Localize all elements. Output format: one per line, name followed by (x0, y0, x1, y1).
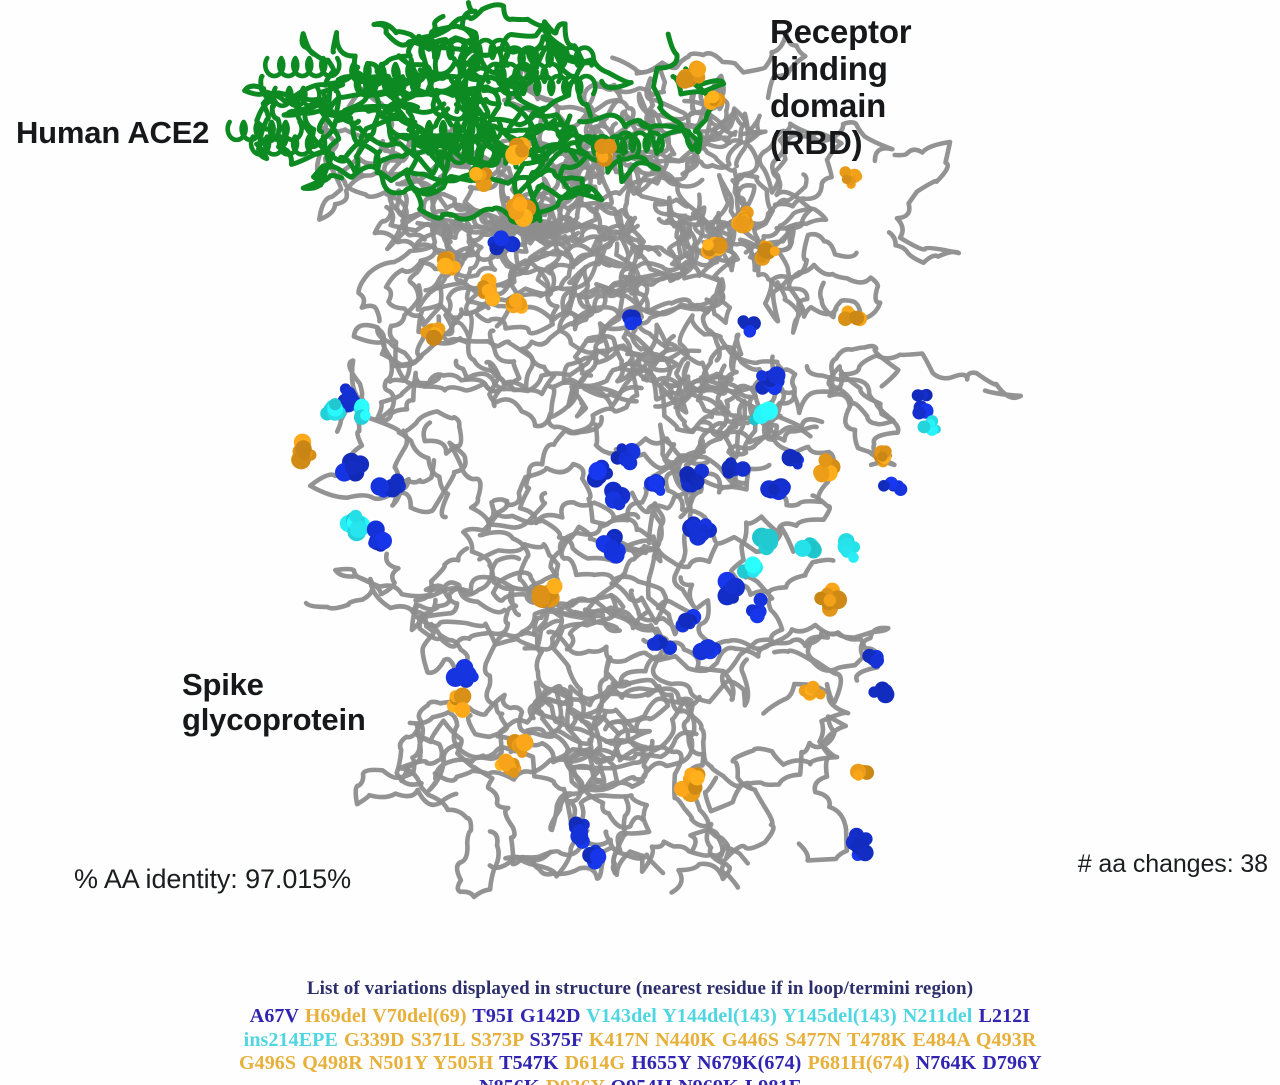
residue-sphere-cluster (367, 521, 392, 552)
residue-sphere-cluster (814, 583, 847, 617)
variation-item: Q498R (302, 1052, 363, 1074)
variation-item: H655Y (631, 1052, 691, 1074)
residue-sphere-cluster (291, 434, 317, 470)
figure-canvas: Human ACE2 Receptor binding domain (RBD)… (0, 0, 1280, 1085)
variation-item: G446S (722, 1029, 779, 1051)
label-receptor-binding-domain: Receptor binding domain (RBD) (770, 14, 911, 162)
residue-sphere-cluster (731, 206, 754, 234)
residue-sphere-cluster (679, 464, 709, 493)
residue-sphere-cluster (611, 443, 641, 470)
variation-item: S375F (529, 1029, 582, 1051)
variation-item: S373P (471, 1029, 524, 1051)
variation-item: L981F (745, 1076, 801, 1085)
residue-sphere-cluster (746, 593, 768, 623)
variation-item: G142D (520, 1005, 581, 1027)
residue-sphere-cluster (846, 828, 874, 862)
residue-sphere-cluster (674, 767, 705, 802)
variation-item: T547K (499, 1052, 558, 1074)
residue-sphere-cluster (794, 537, 822, 558)
aa-changes-stat: # aa changes: 38 (1078, 850, 1268, 879)
variation-item: Y505H (433, 1052, 494, 1074)
variation-item: H69del (305, 1005, 367, 1027)
residue-sphere-cluster (840, 166, 863, 189)
residue-sphere-cluster (850, 764, 874, 781)
variation-item: T95I (472, 1005, 514, 1027)
variation-item: ins214EPE (244, 1029, 338, 1051)
variation-item: D614G (565, 1052, 626, 1074)
variation-item: N501Y (369, 1052, 428, 1074)
residue-sphere-cluster (722, 457, 751, 478)
variation-item: N440K (655, 1029, 716, 1051)
variation-item: L212I (979, 1005, 1031, 1027)
variation-item: V70del(69) (372, 1005, 466, 1027)
variation-item: T478K (847, 1029, 906, 1051)
label-human-ace2: Human ACE2 (16, 116, 209, 151)
variation-item: S371L (411, 1029, 465, 1051)
variation-list-caption: List of variations displayed in structur… (0, 978, 1280, 1000)
variation-list-block: List of variations displayed in structur… (0, 978, 1280, 1085)
residue-sphere-cluster (862, 649, 884, 669)
protein-structure-render (0, 0, 1280, 1085)
variation-item: G339D (344, 1029, 405, 1051)
variation-item: G496S (239, 1052, 296, 1074)
variation-item: D936Y (546, 1076, 605, 1085)
residue-sphere-cluster (838, 533, 861, 563)
residue-sphere-cluster (477, 273, 500, 306)
residue-sphere-cluster (755, 366, 785, 395)
residue-sphere-cluster (838, 306, 867, 327)
residue-sphere-cluster (912, 389, 934, 420)
variation-item: Q493R (976, 1029, 1037, 1051)
variation-item: N856K (479, 1076, 540, 1085)
variation-item: D796Y (982, 1052, 1041, 1074)
variation-item: Y144del(143) (662, 1005, 777, 1027)
variation-item: K417N (589, 1029, 650, 1051)
residue-sphere-cluster (604, 482, 630, 511)
variation-item: V143del (586, 1005, 657, 1027)
variation-item: N679K(674) (697, 1052, 801, 1074)
variation-list: A67V H69del V70del(69) T95I G142D V143de… (0, 1005, 1280, 1085)
variation-item: N211del (903, 1005, 973, 1027)
residue-sphere-cluster (354, 399, 371, 425)
residue-sphere-cluster (813, 453, 840, 482)
aa-identity-stat: % AA identity: 97.015% (74, 864, 351, 895)
residue-sphere-cluster (335, 453, 369, 482)
residue-sphere-cluster (878, 477, 907, 496)
variation-item: S477N (785, 1029, 841, 1051)
residue-sphere-cluster (682, 516, 717, 545)
variation-item: E484A (913, 1029, 970, 1051)
variation-item: N969K (678, 1076, 739, 1085)
residue-sphere-cluster (340, 510, 371, 541)
variation-item: P681H(674) (808, 1052, 910, 1074)
variation-item: A67V (250, 1005, 299, 1027)
variation-item: N764K (916, 1052, 977, 1074)
residue-sphere-cluster (868, 682, 894, 704)
residue-sphere-cluster (738, 315, 761, 337)
variation-item: Y145del(143) (782, 1005, 897, 1027)
label-spike-glycoprotein: Spike glycoprotein (182, 668, 366, 737)
variation-item: Q954H (610, 1076, 672, 1085)
